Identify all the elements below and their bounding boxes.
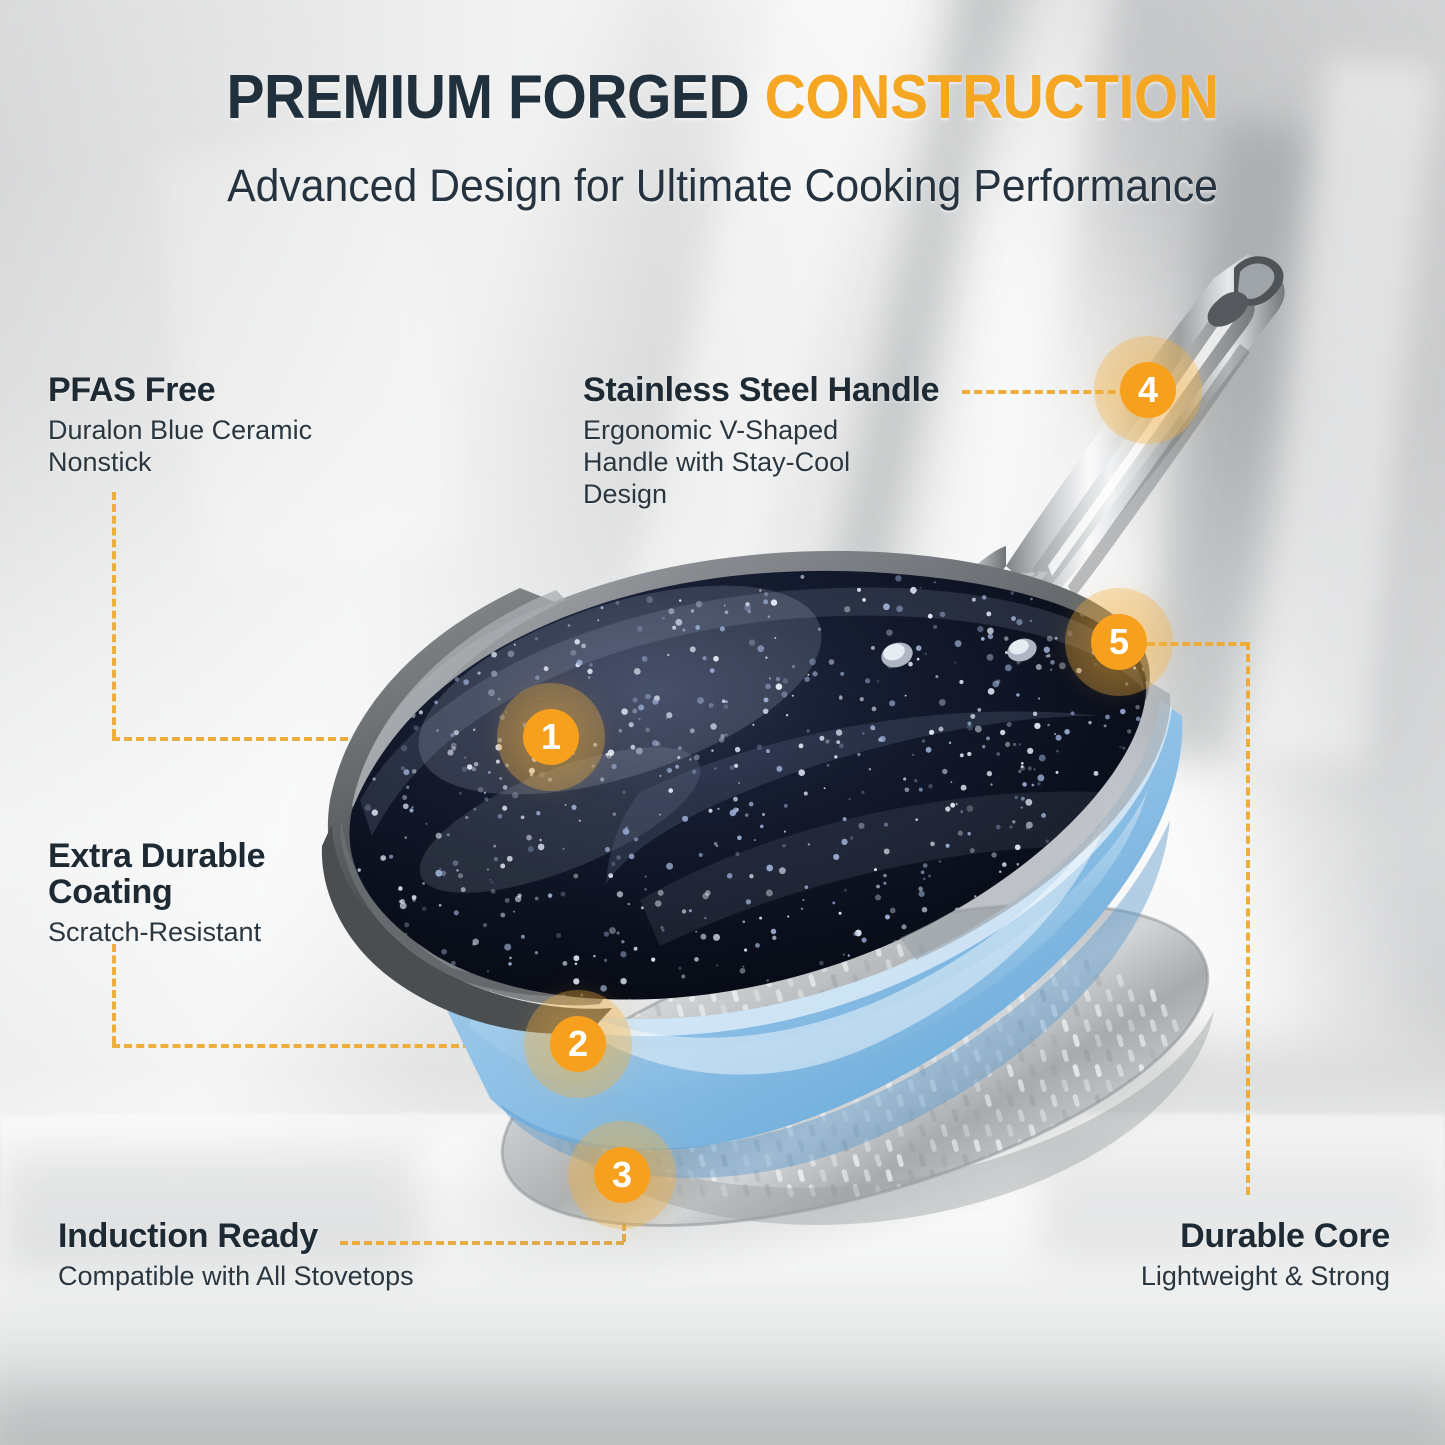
badge-5[interactable]: 5 bbox=[1091, 614, 1147, 670]
badge-1-label: 1 bbox=[541, 719, 561, 755]
badge-4[interactable]: 4 bbox=[1120, 362, 1176, 418]
badge-4-label: 4 bbox=[1138, 372, 1158, 408]
badge-1[interactable]: 1 bbox=[523, 709, 579, 765]
badge-3-label: 3 bbox=[612, 1157, 632, 1193]
badge-5-label: 5 bbox=[1109, 624, 1129, 660]
badge-3[interactable]: 3 bbox=[594, 1147, 650, 1203]
frying-pan-illustration bbox=[0, 0, 1445, 1445]
badge-2[interactable]: 2 bbox=[550, 1016, 606, 1072]
badge-2-label: 2 bbox=[568, 1026, 588, 1062]
infographic-canvas: PREMIUM FORGED CONSTRUCTION Advanced Des… bbox=[0, 0, 1445, 1445]
